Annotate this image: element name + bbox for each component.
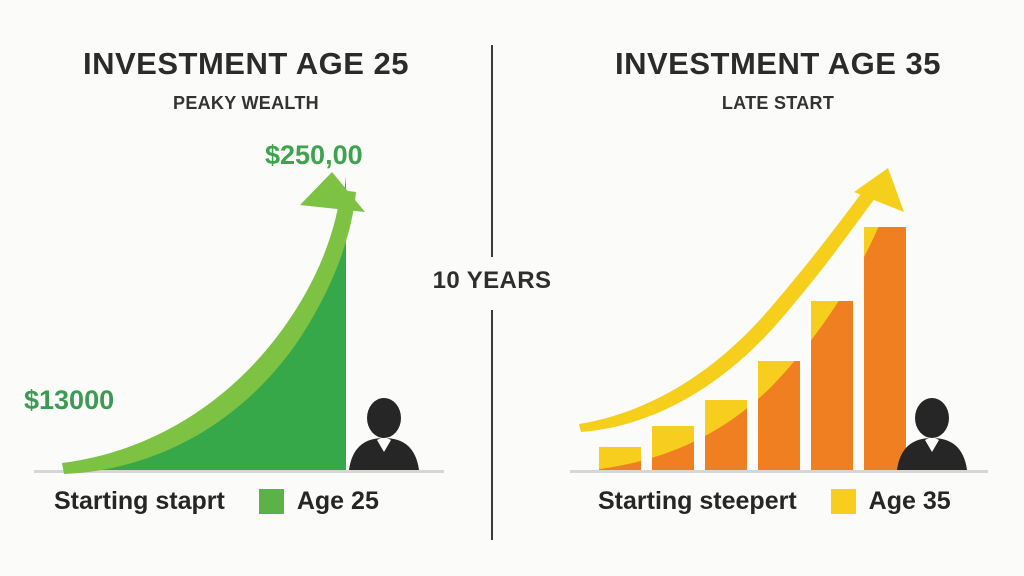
bar-3 xyxy=(705,400,747,470)
peak-value-label-left: $250,00 xyxy=(265,140,363,171)
bar-2 xyxy=(652,426,694,470)
start-value-label-left: $13000 xyxy=(24,385,114,416)
legend-swatch-age-35 xyxy=(831,489,856,514)
legend-right: Starting steepert Age 35 xyxy=(598,487,951,516)
legend-caption-right: Starting steepert xyxy=(598,487,797,516)
legend-swatch-age-25 xyxy=(259,489,284,514)
legend-series-age-35: Age 35 xyxy=(869,487,951,516)
legend-left: Starting staprt Age 25 xyxy=(54,487,379,516)
bar-4 xyxy=(758,361,800,470)
businessman-silhouette-right xyxy=(897,398,967,470)
bar-6 xyxy=(864,227,906,470)
infographic-canvas: INVESTMENT AGE 25 PEAKY WEALTH $250,00 $… xyxy=(0,0,1024,576)
bar-5 xyxy=(811,301,853,470)
legend-series-age-25: Age 25 xyxy=(297,487,379,516)
businessman-silhouette-left xyxy=(349,398,419,470)
baseline-axis-right xyxy=(570,470,988,473)
bar-1 xyxy=(599,447,641,470)
legend-caption-left: Starting staprt xyxy=(54,487,225,516)
